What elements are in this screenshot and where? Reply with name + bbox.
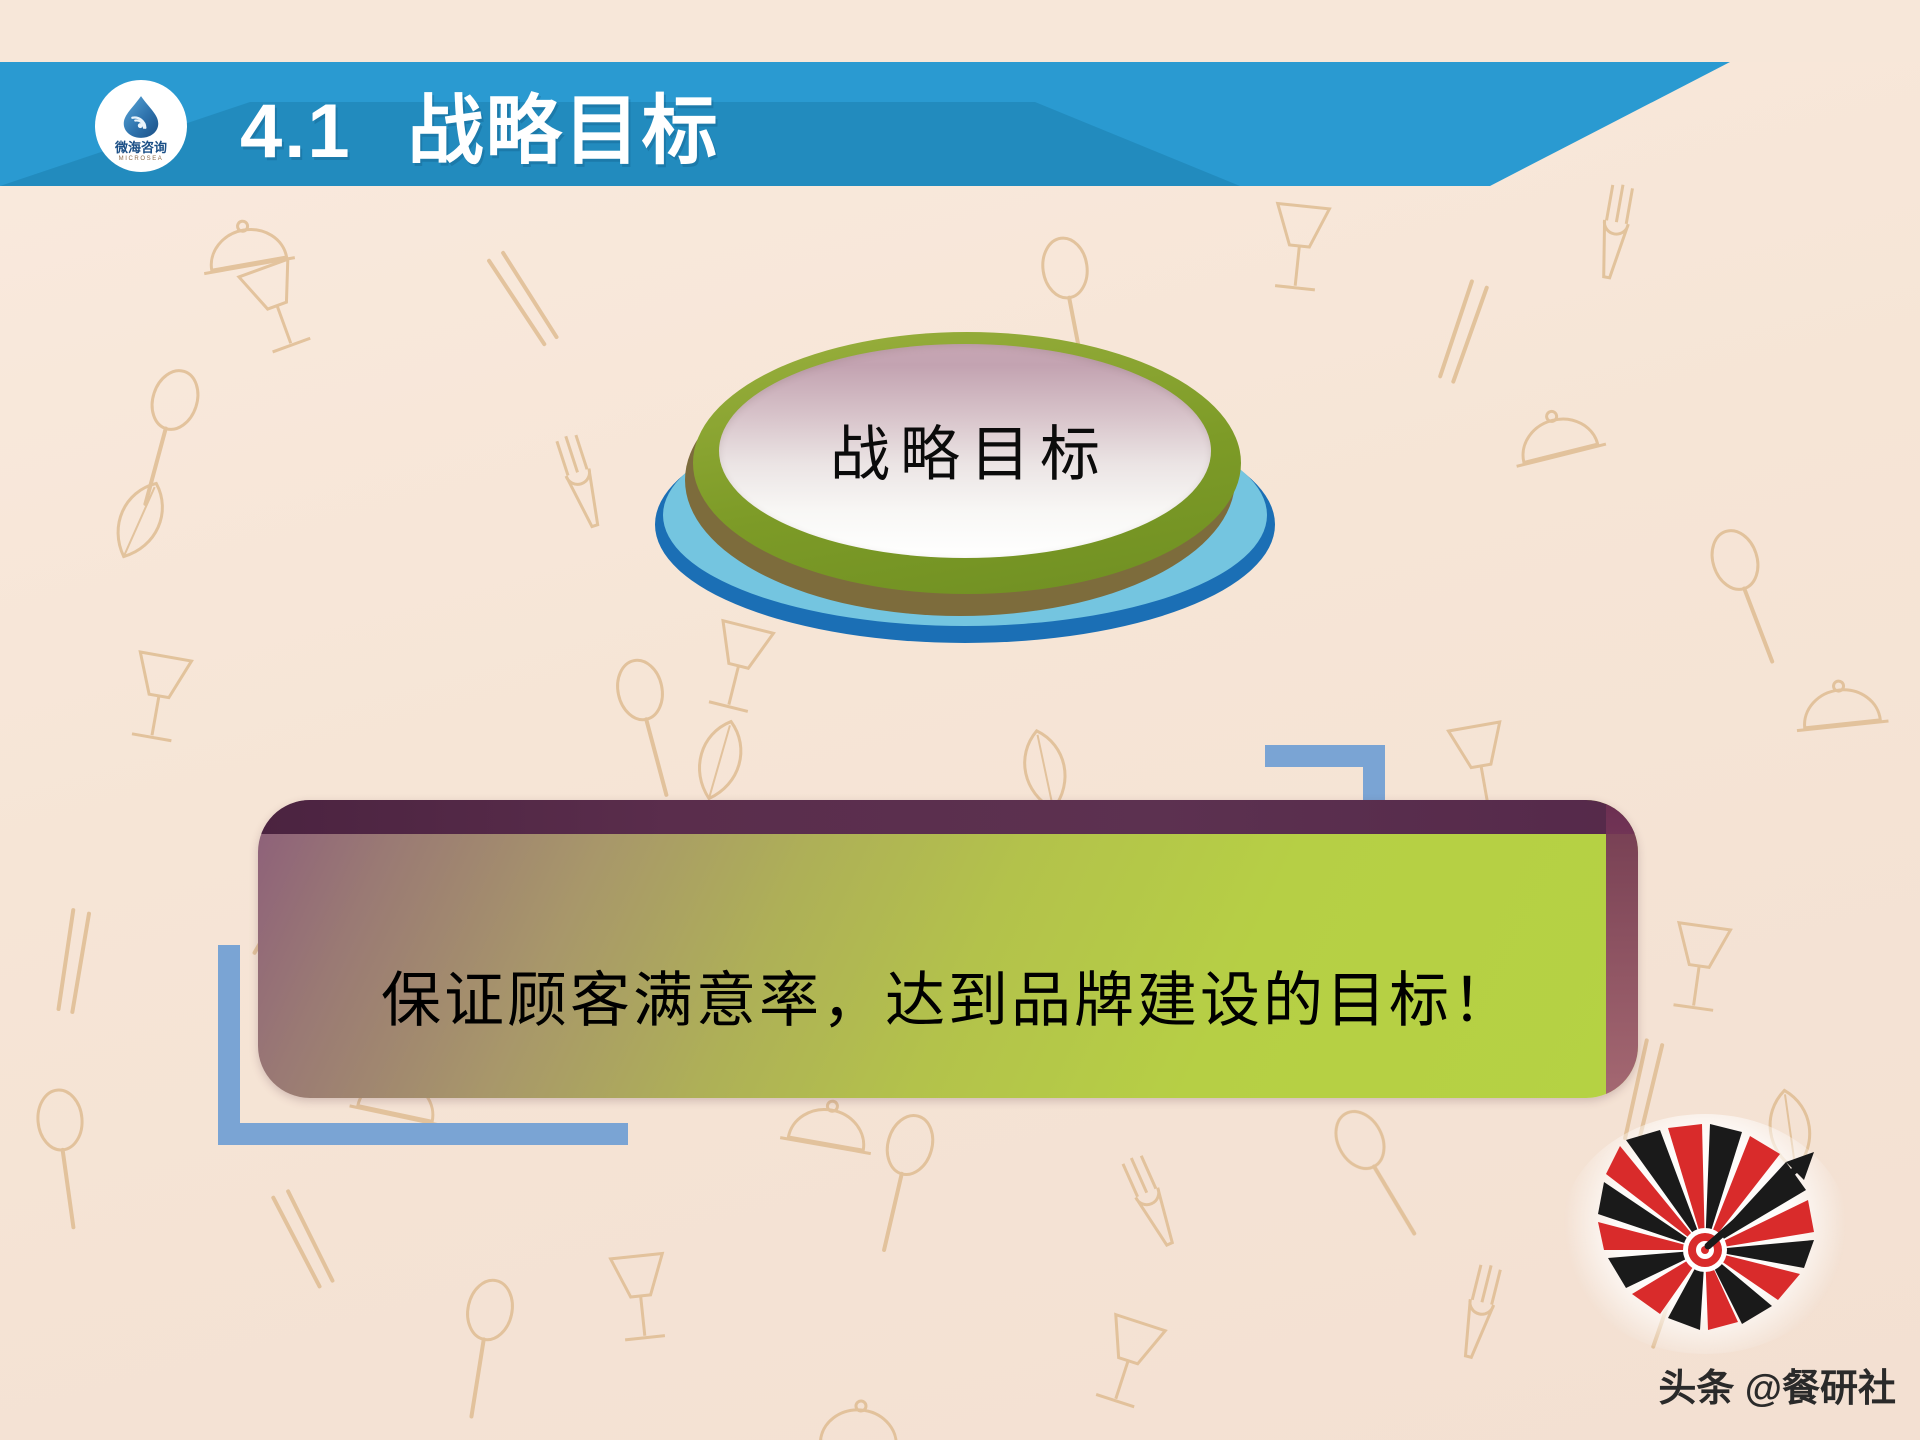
bracket-bottom-left-vertical [218,945,240,1145]
presentation-slide: 微海咨询 MICROSEA 4.1战略目标 战略目标 保证顾客满意率，达到品牌建… [0,0,1920,1440]
watermark-caption: 头条 @餐研社 [1658,1357,1896,1412]
message-text: 保证顾客满意率，达到品牌建设的目标！ [258,952,1638,1039]
water-drop-wifi-icon [118,94,164,140]
strategy-goal-ellipse: 战略目标 [655,318,1275,643]
slide-header: 微海咨询 MICROSEA 4.1战略目标 [0,62,1730,186]
watermark: 头条 @餐研社 [1490,1114,1910,1434]
section-title: 战略目标 [408,89,720,174]
message-box-right-edge [1606,800,1638,1098]
ellipse-label: 战略目标 [655,406,1275,493]
section-number: 4.1 [240,89,352,174]
message-box: 保证顾客满意率，达到品牌建设的目标！ [258,800,1638,1098]
dartboard-arrow-icon [1590,1122,1820,1337]
company-logo: 微海咨询 MICROSEA [95,80,187,172]
message-box-top-band [258,800,1638,834]
logo-cn-text: 微海咨询 [115,141,167,154]
bracket-bottom-left-horizontal [218,1123,628,1145]
logo-en-text: MICROSEA [119,156,164,162]
top-strip [0,0,1920,62]
page-title: 4.1战略目标 [240,69,720,179]
